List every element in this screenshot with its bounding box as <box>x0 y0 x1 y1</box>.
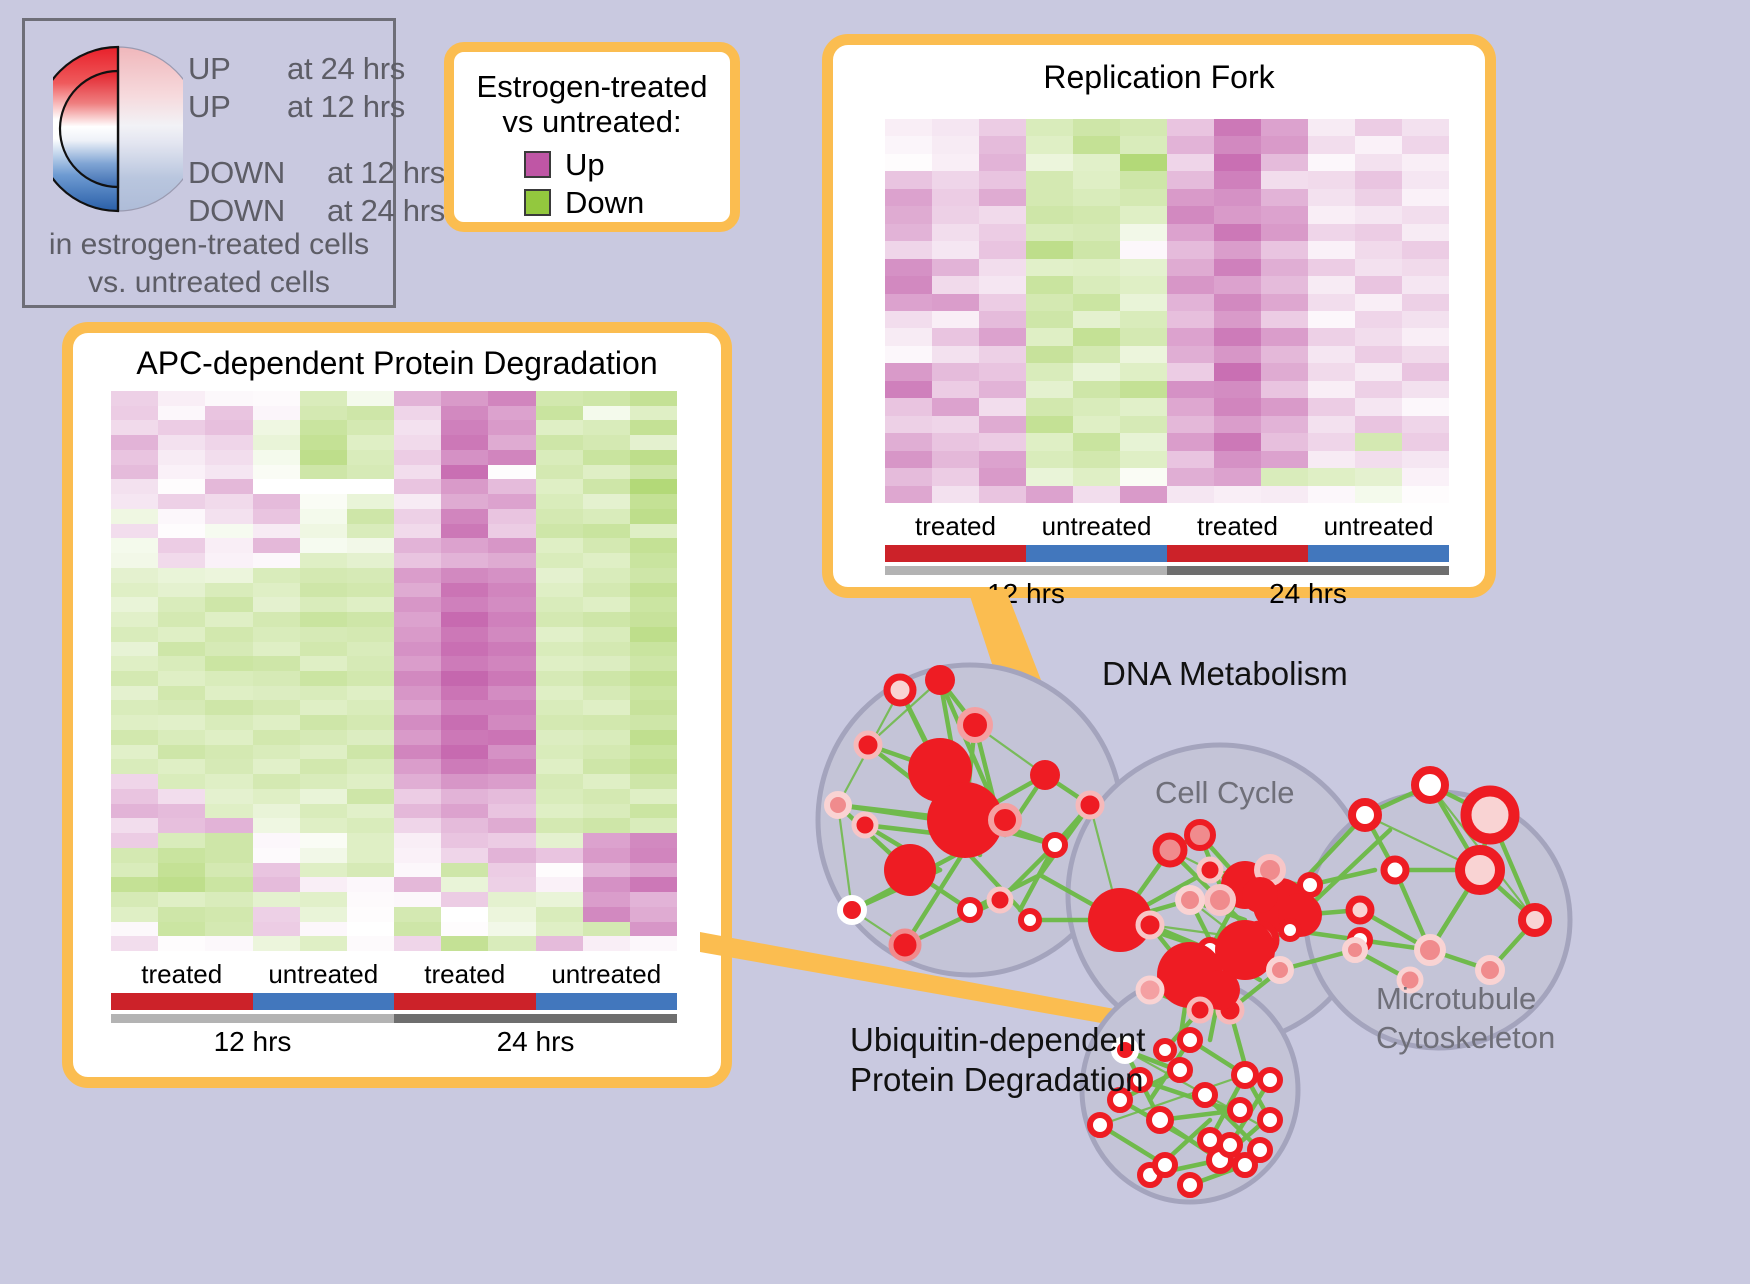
heatmap-cell <box>1120 259 1167 276</box>
heatmap-cell <box>1073 311 1120 328</box>
heatmap-cell <box>1214 206 1261 223</box>
heatmap-cell <box>488 391 535 406</box>
heatmap-cell <box>347 877 394 892</box>
heatmap-cell <box>253 922 300 937</box>
heatmap-cell <box>536 715 583 730</box>
heatmap-cell <box>1214 171 1261 188</box>
cluster-label-dna-metabolism: DNA Metabolism <box>1102 655 1348 693</box>
treatment-bar-2 <box>394 993 536 1010</box>
heatmap-cell <box>1026 294 1073 311</box>
heatmap-cell <box>441 450 488 465</box>
heatmap-cell <box>111 686 158 701</box>
cluster-label-microtubule-cytoskeleton: Microtubule Cytoskeleton <box>1376 980 1555 1058</box>
heatmap-cell <box>583 671 630 686</box>
heatmap-cell <box>488 730 535 745</box>
heatmap-cell <box>300 804 347 819</box>
heatmap-cell <box>158 465 205 480</box>
heatmap-cell <box>630 583 677 598</box>
heatmap-cell <box>932 136 979 153</box>
heatmap-cell <box>885 451 932 468</box>
time-bar-24hrs <box>1167 566 1449 575</box>
heatmap-cell <box>111 553 158 568</box>
heatmap-cell <box>1120 224 1167 241</box>
heatmap-cell <box>583 494 630 509</box>
heatmap-cell <box>536 538 583 553</box>
heatmap-cell <box>1073 468 1120 485</box>
heatmap-cell <box>583 656 630 671</box>
treatment-bar-1 <box>253 993 395 1010</box>
heatmap-cell <box>253 715 300 730</box>
heatmap-cell <box>583 892 630 907</box>
heatmap-cell <box>488 524 535 539</box>
heatmap-cell <box>253 406 300 421</box>
heatmap-cell <box>932 363 979 380</box>
heatmap-cell <box>1261 276 1308 293</box>
heatmap-cell <box>536 524 583 539</box>
heatmap-cell <box>1308 241 1355 258</box>
heatmap-cell <box>394 612 441 627</box>
heatmap-cell <box>300 612 347 627</box>
apc-degradation-heatmap <box>111 391 677 951</box>
heatmap-cell <box>394 450 441 465</box>
heatmap-cell <box>1261 171 1308 188</box>
heatmap-cell <box>1026 468 1073 485</box>
heatmap-cell <box>1073 346 1120 363</box>
heatmap-cell <box>347 583 394 598</box>
heatmap-cell <box>979 171 1026 188</box>
heatmap-cell <box>1073 259 1120 276</box>
heatmap-cell <box>583 922 630 937</box>
heatmap-cell <box>1355 206 1402 223</box>
heatmap-cell <box>347 804 394 819</box>
heatmap-cell <box>158 745 205 760</box>
heatmap-cell <box>630 671 677 686</box>
heatmap-cell <box>300 553 347 568</box>
heatmap-cell <box>1355 346 1402 363</box>
heatmap-cell <box>111 642 158 657</box>
treatment-bar-3 <box>536 993 678 1010</box>
heatmap-cell <box>583 479 630 494</box>
heatmap-cell <box>111 656 158 671</box>
heatmap-cell <box>253 553 300 568</box>
heatmap-cell <box>1120 206 1167 223</box>
heatmap-cell <box>158 568 205 583</box>
heatmap-cell <box>536 671 583 686</box>
cluster-label-ubiquitin-degradation: Ubiquitin-dependent Protein Degradation <box>850 1020 1145 1101</box>
heatmap-cell <box>205 922 252 937</box>
heatmap-cell <box>205 553 252 568</box>
heatmap-cell <box>158 553 205 568</box>
heatmap-cell <box>536 804 583 819</box>
heatmap-cell <box>1073 294 1120 311</box>
heatmap-cell <box>253 450 300 465</box>
heatmap-cell <box>205 833 252 848</box>
heatmap-cell <box>932 224 979 241</box>
heatmap-cell <box>1167 241 1214 258</box>
heatmap-cell <box>932 206 979 223</box>
heatmap-cell <box>583 538 630 553</box>
heatmap-cell <box>979 398 1026 415</box>
heatmap-cell <box>1214 136 1261 153</box>
time-bar-12hrs <box>111 1014 394 1023</box>
heatmap-cell <box>1167 276 1214 293</box>
heatmap-cell <box>1308 119 1355 136</box>
heatmap-cell <box>885 171 932 188</box>
key-heading-line1: Estrogen-treated <box>468 70 716 105</box>
heatmap-cell <box>1120 416 1167 433</box>
heatmap-cell <box>253 833 300 848</box>
heatmap-cell <box>488 435 535 450</box>
heatmap-cell <box>1120 311 1167 328</box>
heatmap-cell <box>583 804 630 819</box>
heatmap-cell <box>1167 328 1214 345</box>
heatmap-cell <box>205 745 252 760</box>
heatmap-cell <box>536 818 583 833</box>
heatmap-cell <box>1167 171 1214 188</box>
heatmap-cell <box>300 538 347 553</box>
heatmap-cell <box>347 700 394 715</box>
heatmap-cell <box>111 877 158 892</box>
heatmap-cell <box>1026 206 1073 223</box>
heatmap-cell <box>979 433 1026 450</box>
network-svg <box>790 620 1750 1279</box>
heatmap-cell <box>158 671 205 686</box>
heatmap-cell <box>300 745 347 760</box>
heatmap-cell <box>536 391 583 406</box>
heatmap-cell <box>1167 451 1214 468</box>
heatmap-cell <box>1167 259 1214 276</box>
time-label-row: 12 hrs 24 hrs <box>111 1026 677 1058</box>
heatmap-cell <box>932 328 979 345</box>
heatmap-cell <box>1355 171 1402 188</box>
heatmap-cell <box>536 597 583 612</box>
heatmap-cell <box>300 907 347 922</box>
heatmap-cell <box>347 435 394 450</box>
time-label-0: 12 hrs <box>111 1026 394 1058</box>
heatmap-cell <box>583 686 630 701</box>
heatmap-cell <box>205 774 252 789</box>
heatmap-cell <box>1026 398 1073 415</box>
heatmap-cell <box>1120 119 1167 136</box>
heatmap-cell <box>630 833 677 848</box>
heatmap-cell <box>1120 276 1167 293</box>
heatmap-cell <box>111 700 158 715</box>
heatmap-cell <box>300 789 347 804</box>
heatmap-cell <box>441 759 488 774</box>
heatmap-cell <box>1261 189 1308 206</box>
heatmap-cell <box>158 509 205 524</box>
heatmap-cell <box>253 524 300 539</box>
heatmap-cell <box>1402 363 1449 380</box>
heatmap-cell <box>536 656 583 671</box>
heatmap-cell <box>205 420 252 435</box>
heatmap-cell <box>158 479 205 494</box>
treatment-bar-0 <box>111 993 253 1010</box>
heatmap-cell <box>536 553 583 568</box>
heatmap-cell <box>111 583 158 598</box>
heatmap-cell <box>300 833 347 848</box>
heatmap-cell <box>1355 154 1402 171</box>
heatmap-cell <box>1402 171 1449 188</box>
heatmap-cell <box>583 524 630 539</box>
wheel-row-1-time: at 12 hrs <box>287 89 405 125</box>
heatmap-cell <box>1026 346 1073 363</box>
heatmap-cell <box>488 597 535 612</box>
heatmap-cell <box>111 804 158 819</box>
heatmap-cell <box>394 642 441 657</box>
heatmap-cell <box>347 509 394 524</box>
apc-degradation-title: APC-dependent Protein Degradation <box>73 345 721 382</box>
heatmap-cell <box>1167 398 1214 415</box>
heatmap-cell <box>300 686 347 701</box>
cluster-label-cell-cycle: Cell Cycle <box>1155 775 1295 811</box>
heatmap-cell <box>1308 451 1355 468</box>
heatmap-cell <box>1261 294 1308 311</box>
heatmap-cell <box>158 583 205 598</box>
heatmap-cell <box>583 789 630 804</box>
heatmap-cell <box>253 568 300 583</box>
heatmap-cell <box>1261 311 1308 328</box>
heatmap-cell <box>205 479 252 494</box>
heatmap-cell <box>158 450 205 465</box>
heatmap-cell <box>441 494 488 509</box>
heatmap-cell <box>536 730 583 745</box>
heatmap-cell <box>394 671 441 686</box>
heatmap-cell <box>394 907 441 922</box>
heatmap-cell <box>111 922 158 937</box>
heatmap-cell <box>1261 259 1308 276</box>
heatmap-cell <box>630 922 677 937</box>
heatmap-cell <box>1120 346 1167 363</box>
heatmap-cell <box>441 612 488 627</box>
heatmap-cell <box>630 877 677 892</box>
heatmap-cell <box>1120 154 1167 171</box>
heatmap-cell <box>488 479 535 494</box>
heatmap-cell <box>488 420 535 435</box>
heatmap-cell <box>205 936 252 951</box>
heatmap-cell <box>394 774 441 789</box>
heatmap-cell <box>1073 363 1120 380</box>
heatmap-cell <box>1120 171 1167 188</box>
heatmap-cell <box>347 789 394 804</box>
heatmap-cell <box>1214 433 1261 450</box>
heatmap-cell <box>158 759 205 774</box>
up-swatch-icon <box>524 151 551 178</box>
heatmap-cell <box>630 391 677 406</box>
heatmap-cell <box>583 863 630 878</box>
heatmap-cell <box>111 892 158 907</box>
heatmap-cell <box>583 833 630 848</box>
heatmap-cell <box>205 597 252 612</box>
heatmap-cell <box>630 730 677 745</box>
heatmap-cell <box>347 774 394 789</box>
heatmap-cell <box>111 833 158 848</box>
heatmap-cell <box>536 848 583 863</box>
heatmap-cell <box>441 420 488 435</box>
heatmap-cell <box>253 627 300 642</box>
heatmap-cell <box>583 877 630 892</box>
heatmap-cell <box>253 789 300 804</box>
heatmap-cell <box>111 406 158 421</box>
heatmap-cell <box>347 759 394 774</box>
heatmap-cell <box>347 568 394 583</box>
heatmap-cell <box>394 922 441 937</box>
heatmap-cell <box>300 848 347 863</box>
heatmap-cell <box>253 877 300 892</box>
heatmap-cell <box>347 420 394 435</box>
heatmap-cell <box>347 391 394 406</box>
heatmap-cell <box>1120 451 1167 468</box>
heatmap-cell <box>111 612 158 627</box>
heatmap-cell <box>1261 381 1308 398</box>
heatmap-cell <box>347 642 394 657</box>
heatmap-cell <box>205 538 252 553</box>
heatmap-cell <box>300 642 347 657</box>
heatmap-cell <box>488 538 535 553</box>
heatmap-cell <box>1402 276 1449 293</box>
heatmap-cell <box>1073 171 1120 188</box>
heatmap-cell <box>158 774 205 789</box>
heatmap-cell <box>347 686 394 701</box>
heatmap-cell <box>253 936 300 951</box>
heatmap-cell <box>536 892 583 907</box>
heatmap-cell <box>488 656 535 671</box>
heatmap-cell <box>1073 381 1120 398</box>
heatmap-cell <box>111 863 158 878</box>
heatmap-cell <box>347 892 394 907</box>
heatmap-cell <box>205 656 252 671</box>
heatmap-cell <box>1308 398 1355 415</box>
heatmap-cell <box>441 597 488 612</box>
heatmap-cell <box>300 774 347 789</box>
heatmap-cell <box>1261 346 1308 363</box>
heatmap-cell <box>205 494 252 509</box>
heatmap-cell <box>205 863 252 878</box>
heatmap-cell <box>300 671 347 686</box>
heatmap-cell <box>885 259 932 276</box>
heatmap-cell <box>1026 363 1073 380</box>
heatmap-cell <box>1214 381 1261 398</box>
heatmap-cell <box>253 759 300 774</box>
heatmap-cell <box>932 416 979 433</box>
heatmap-cell <box>1402 451 1449 468</box>
heatmap-cell <box>630 524 677 539</box>
heatmap-cell <box>630 686 677 701</box>
heatmap-cell <box>488 583 535 598</box>
heatmap-cell <box>1308 468 1355 485</box>
heatmap-cell <box>1214 363 1261 380</box>
heatmap-cell <box>488 686 535 701</box>
heatmap-cell <box>158 597 205 612</box>
heatmap-cell <box>1026 154 1073 171</box>
heatmap-cell <box>1308 294 1355 311</box>
heatmap-cell <box>347 730 394 745</box>
heatmap-cell <box>630 789 677 804</box>
heatmap-cell <box>1308 189 1355 206</box>
heatmap-cell <box>536 450 583 465</box>
heatmap-cell <box>441 671 488 686</box>
heatmap-cell <box>394 524 441 539</box>
heatmap-cell <box>300 715 347 730</box>
heatmap-cell <box>488 627 535 642</box>
heatmap-cell <box>394 700 441 715</box>
heatmap-cell <box>1308 486 1355 503</box>
heatmap-cell <box>1120 241 1167 258</box>
heatmap-cell <box>488 715 535 730</box>
heatmap-cell <box>158 863 205 878</box>
heatmap-cell <box>932 433 979 450</box>
heatmap-cell <box>488 509 535 524</box>
heatmap-cell <box>536 465 583 480</box>
heatmap-cell <box>300 627 347 642</box>
heatmap-cell <box>1355 276 1402 293</box>
heatmap-cell <box>253 509 300 524</box>
heatmap-cell <box>1402 311 1449 328</box>
colour-wheel-legend: UP at 24 hrs UP at 12 hrs DOWN at 12 hrs… <box>22 18 396 308</box>
heatmap-cell <box>630 745 677 760</box>
heatmap-cell <box>979 486 1026 503</box>
heatmap-cell <box>488 848 535 863</box>
heatmap-cell <box>300 450 347 465</box>
heatmap-cell <box>300 568 347 583</box>
heatmap-cell <box>1073 206 1120 223</box>
wheel-row-2-direction: DOWN <box>188 155 285 191</box>
heatmap-cell <box>394 656 441 671</box>
treatment-bar-3 <box>1308 545 1449 562</box>
heatmap-cell <box>300 391 347 406</box>
heatmap-cell <box>253 583 300 598</box>
heatmap-cell <box>111 420 158 435</box>
wheel-row-0-time: at 24 hrs <box>287 51 405 87</box>
heatmap-cell <box>158 494 205 509</box>
heatmap-cell <box>394 730 441 745</box>
heatmap-cell <box>583 715 630 730</box>
heatmap-cell <box>347 907 394 922</box>
heatmap-cell <box>932 468 979 485</box>
heatmap-cell <box>394 877 441 892</box>
treatment-colour-bar <box>111 993 677 1010</box>
heatmap-cell <box>1167 311 1214 328</box>
heatmap-cell <box>536 479 583 494</box>
heatmap-cell <box>347 538 394 553</box>
heatmap-cell <box>1026 259 1073 276</box>
heatmap-cell <box>158 524 205 539</box>
heatmap-cell <box>1355 451 1402 468</box>
heatmap-cell <box>158 848 205 863</box>
heatmap-cell <box>979 276 1026 293</box>
heatmap-cell <box>111 450 158 465</box>
heatmap-cell <box>630 892 677 907</box>
time-bar-24hrs <box>394 1014 677 1023</box>
heatmap-cell <box>488 450 535 465</box>
wheel-legend-caption: in estrogen-treated cells vs. untreated … <box>25 226 393 301</box>
heatmap-cell <box>441 479 488 494</box>
heatmap-cell <box>932 294 979 311</box>
heatmap-cell <box>630 465 677 480</box>
heatmap-cell <box>536 627 583 642</box>
heatmap-cell <box>394 406 441 421</box>
heatmap-cell <box>441 509 488 524</box>
heatmap-cell <box>347 922 394 937</box>
heatmap-cell <box>583 745 630 760</box>
heatmap-cell <box>394 583 441 598</box>
heatmap-cell <box>885 276 932 293</box>
heatmap-cell <box>1214 119 1261 136</box>
heatmap-cell <box>111 465 158 480</box>
heatmap-cell <box>347 745 394 760</box>
heatmap-cell <box>300 877 347 892</box>
heatmap-cell <box>1214 398 1261 415</box>
